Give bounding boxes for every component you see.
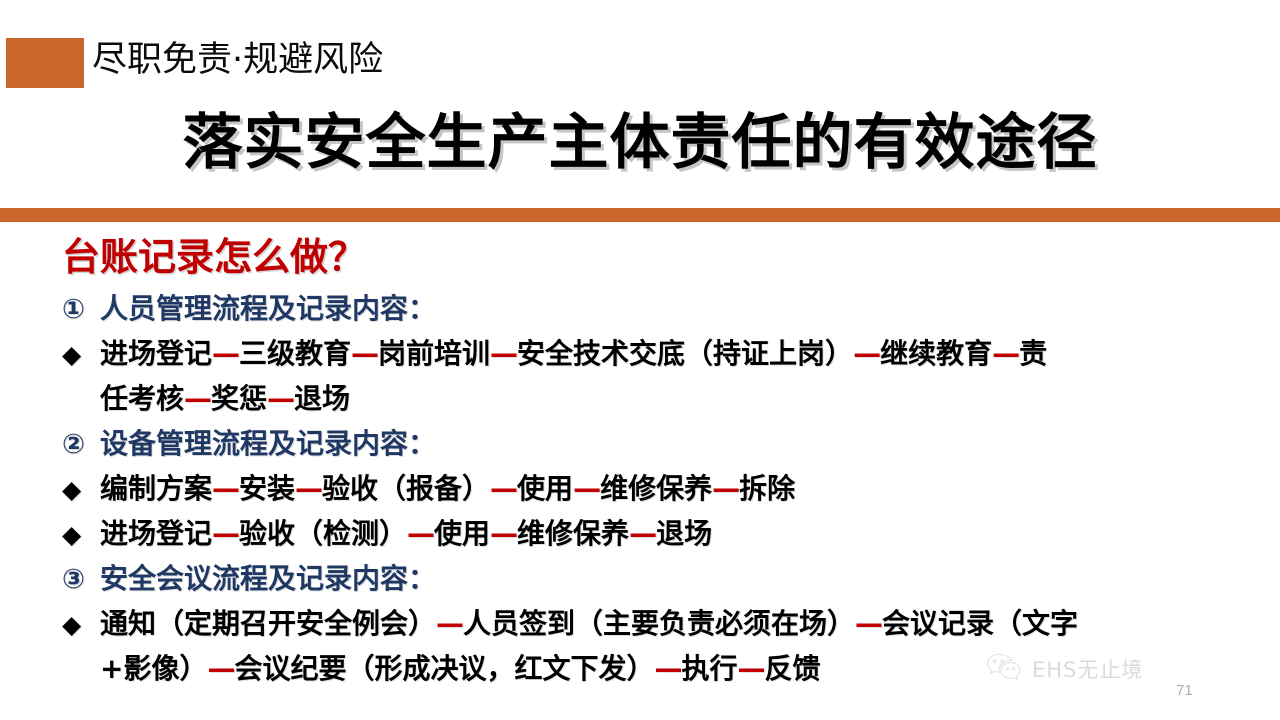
flow-step: 通知（定期召开安全例会） (100, 607, 436, 640)
section-heading: ③安全会议流程及记录内容： (0, 556, 1280, 601)
flow-step: 继续教育 (880, 337, 992, 370)
flow-step: 进场登记 (100, 517, 212, 550)
flow-separator: — (654, 652, 681, 685)
number-marker-icon: ① (62, 287, 100, 332)
line-text: 人员管理流程及记录内容： (100, 292, 436, 325)
flow-separator: — (490, 517, 517, 550)
flow-separator: — (712, 472, 739, 505)
content-line: ◆进场登记—验收（检测）—使用—维修保养—退场 (0, 511, 1280, 556)
watermark: EHS无止境 (985, 652, 1143, 686)
content-line: ◆通知（定期召开安全例会）—人员签到（主要负责必须在场）—会议记录（文字 (0, 601, 1280, 646)
flow-separator: — (490, 472, 517, 505)
flow-step: 安装 (239, 472, 295, 505)
flow-separator: — (629, 517, 656, 550)
flow-step: 人员签到（主要负责必须在场） (463, 607, 855, 640)
section-heading: ②设备管理流程及记录内容： (0, 421, 1280, 466)
content-line: 任考核—奖惩—退场 (0, 376, 1280, 421)
flow-separator: — (207, 652, 234, 685)
slide: 尽职免责·规避风险 落实安全生产主体责任的有效途径 台账记录怎么做？ ①人员管理… (0, 0, 1280, 720)
flow-separator: — (407, 517, 434, 550)
flow-separator: — (738, 652, 765, 685)
diamond-bullet-icon: ◆ (62, 602, 100, 647)
flow-separator: — (212, 472, 239, 505)
flow-step: 反馈 (765, 652, 821, 685)
flow-step: 退场 (656, 517, 712, 550)
line-text: 安全会议流程及记录内容： (100, 562, 436, 595)
flow-step: 拆除 (739, 472, 795, 505)
diamond-bullet-icon: ◆ (62, 467, 100, 512)
flow-separator: — (212, 517, 239, 550)
line-text: 设备管理流程及记录内容： (100, 427, 436, 460)
watermark-label: EHS无止境 (1032, 654, 1143, 684)
page-number: 71 (1176, 682, 1193, 699)
flow-step: +影像） (100, 652, 207, 685)
flow-step: 执行 (681, 652, 737, 685)
flow-separator: — (295, 472, 322, 505)
slide-kicker-row: 尽职免责·规避风险 (0, 30, 1280, 94)
number-marker-icon: ③ (62, 557, 100, 602)
content-lines: ①人员管理流程及记录内容：◆进场登记—三级教育—岗前培训—安全技术交底（持证上岗… (0, 286, 1280, 691)
flow-step: 岗前培训 (378, 337, 490, 370)
content-line: ◆编制方案—安装—验收（报备）—使用—维修保养—拆除 (0, 466, 1280, 511)
flow-step: 验收（检测） (239, 517, 407, 550)
flow-step: 会议纪要（形成决议，红文下发） (234, 652, 654, 685)
flow-step: 任考核 (100, 382, 184, 415)
divider-bar (0, 208, 1280, 222)
flow-separator: — (351, 337, 378, 370)
flow-step: 维修保养 (600, 472, 712, 505)
section-question: 台账记录怎么做？ (62, 232, 366, 282)
flow-step: 责 (1019, 337, 1047, 370)
flow-separator: — (573, 472, 600, 505)
diamond-bullet-icon: ◆ (62, 512, 100, 557)
flow-step: 安全技术交底（持证上岗） (517, 337, 853, 370)
flow-separator: — (490, 337, 517, 370)
accent-block (6, 38, 84, 88)
wechat-icon (985, 652, 1025, 686)
flow-separator: — (267, 382, 294, 415)
flow-separator: — (184, 382, 211, 415)
flow-separator: — (436, 607, 463, 640)
flow-step: 三级教育 (239, 337, 351, 370)
content-line: ◆进场登记—三级教育—岗前培训—安全技术交底（持证上岗）—继续教育—责 (0, 331, 1280, 376)
flow-step: 奖惩 (211, 382, 267, 415)
flow-step: 使用 (517, 472, 573, 505)
number-marker-icon: ② (62, 422, 100, 467)
flow-separator: — (853, 337, 880, 370)
kicker-text: 尽职免责·规避风险 (92, 30, 383, 90)
diamond-bullet-icon: ◆ (62, 332, 100, 377)
body-area: 台账记录怎么做？ ①人员管理流程及记录内容：◆进场登记—三级教育—岗前培训—安全… (0, 228, 1280, 720)
flow-step: 验收（报备） (322, 472, 490, 505)
flow-step: 维修保养 (517, 517, 629, 550)
flow-step: 进场登记 (100, 337, 212, 370)
flow-separator: — (212, 337, 239, 370)
flow-step: 使用 (434, 517, 490, 550)
flow-separator: — (855, 607, 882, 640)
flow-separator: — (992, 337, 1019, 370)
section-heading: ①人员管理流程及记录内容： (0, 286, 1280, 331)
page-title: 落实安全生产主体责任的有效途径 (0, 104, 1280, 182)
flow-step: 退场 (294, 382, 350, 415)
flow-step: 编制方案 (100, 472, 212, 505)
flow-step: 会议记录（文字 (882, 607, 1078, 640)
